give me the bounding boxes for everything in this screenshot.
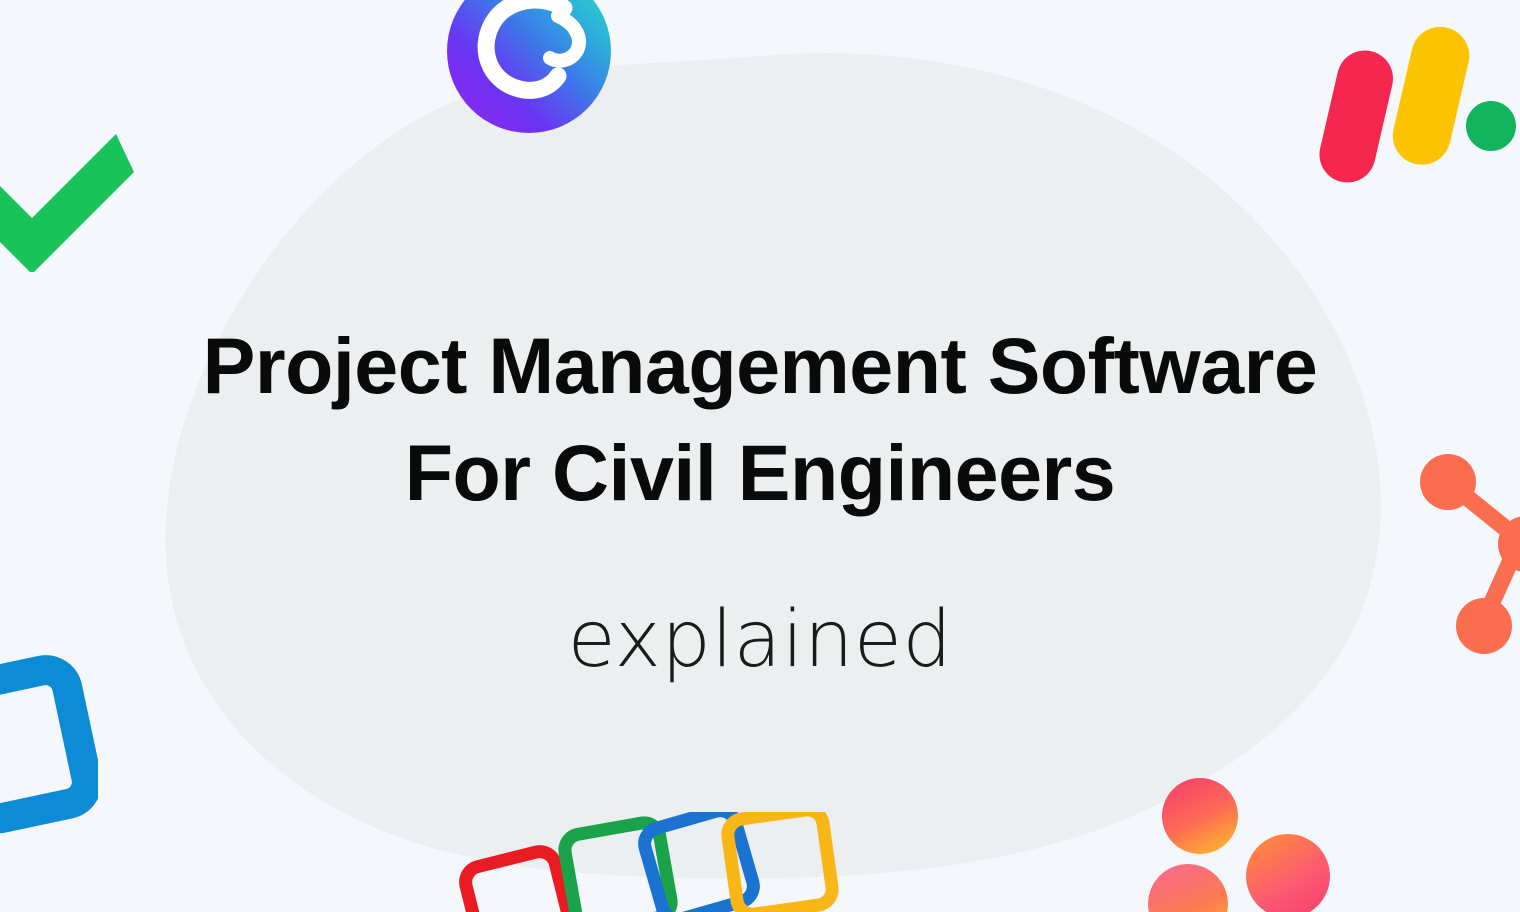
edge-browser-logo-icon xyxy=(446,0,612,134)
check-mark-logo-icon xyxy=(0,122,134,272)
title-card-canvas: Project Management Software For Civil En… xyxy=(0,0,1520,912)
analytics-logo-icon xyxy=(1292,14,1520,196)
overlapping-squares-logo-icon xyxy=(452,812,852,912)
network-graph-logo-icon xyxy=(1408,444,1520,662)
gradient-dots-logo-icon xyxy=(1140,778,1360,912)
blue-square-logo-icon xyxy=(0,654,98,834)
